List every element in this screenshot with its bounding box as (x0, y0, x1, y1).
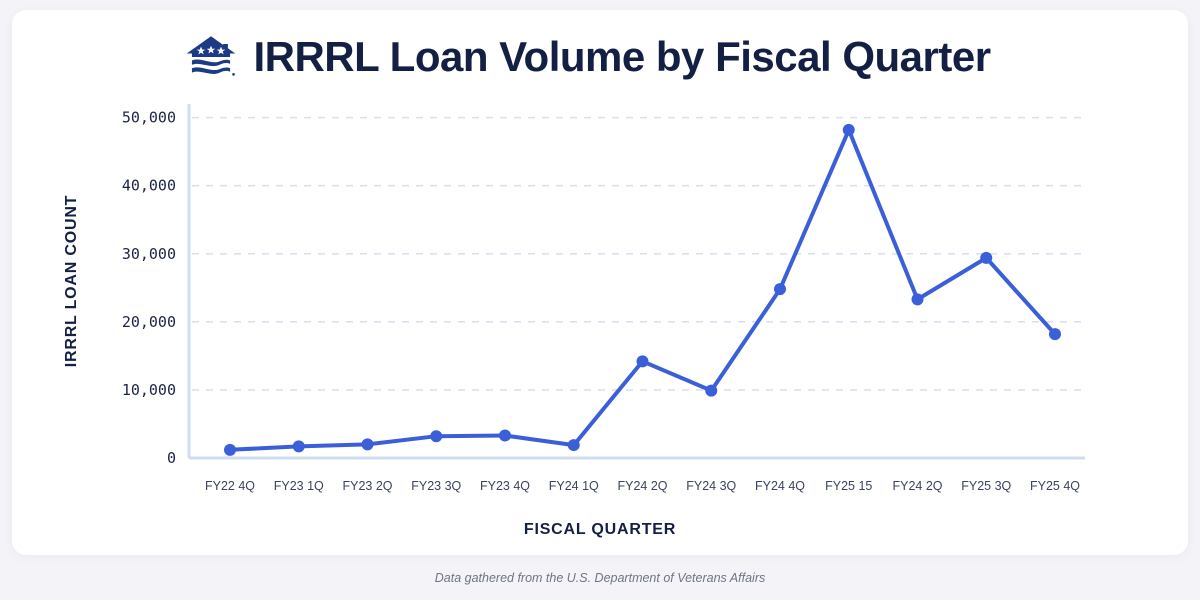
chart-header: IRRRL Loan Volume by Fiscal Quarter (0, 34, 1176, 80)
source-note: Data gathered from the U.S. Department o… (0, 571, 1200, 585)
chart-card (12, 10, 1188, 555)
page-title: IRRRL Loan Volume by Fiscal Quarter (253, 36, 990, 78)
va-house-flag-icon (185, 34, 237, 80)
chart-page: IRRRL Loan Volume by Fiscal Quarter 010,… (0, 0, 1200, 600)
